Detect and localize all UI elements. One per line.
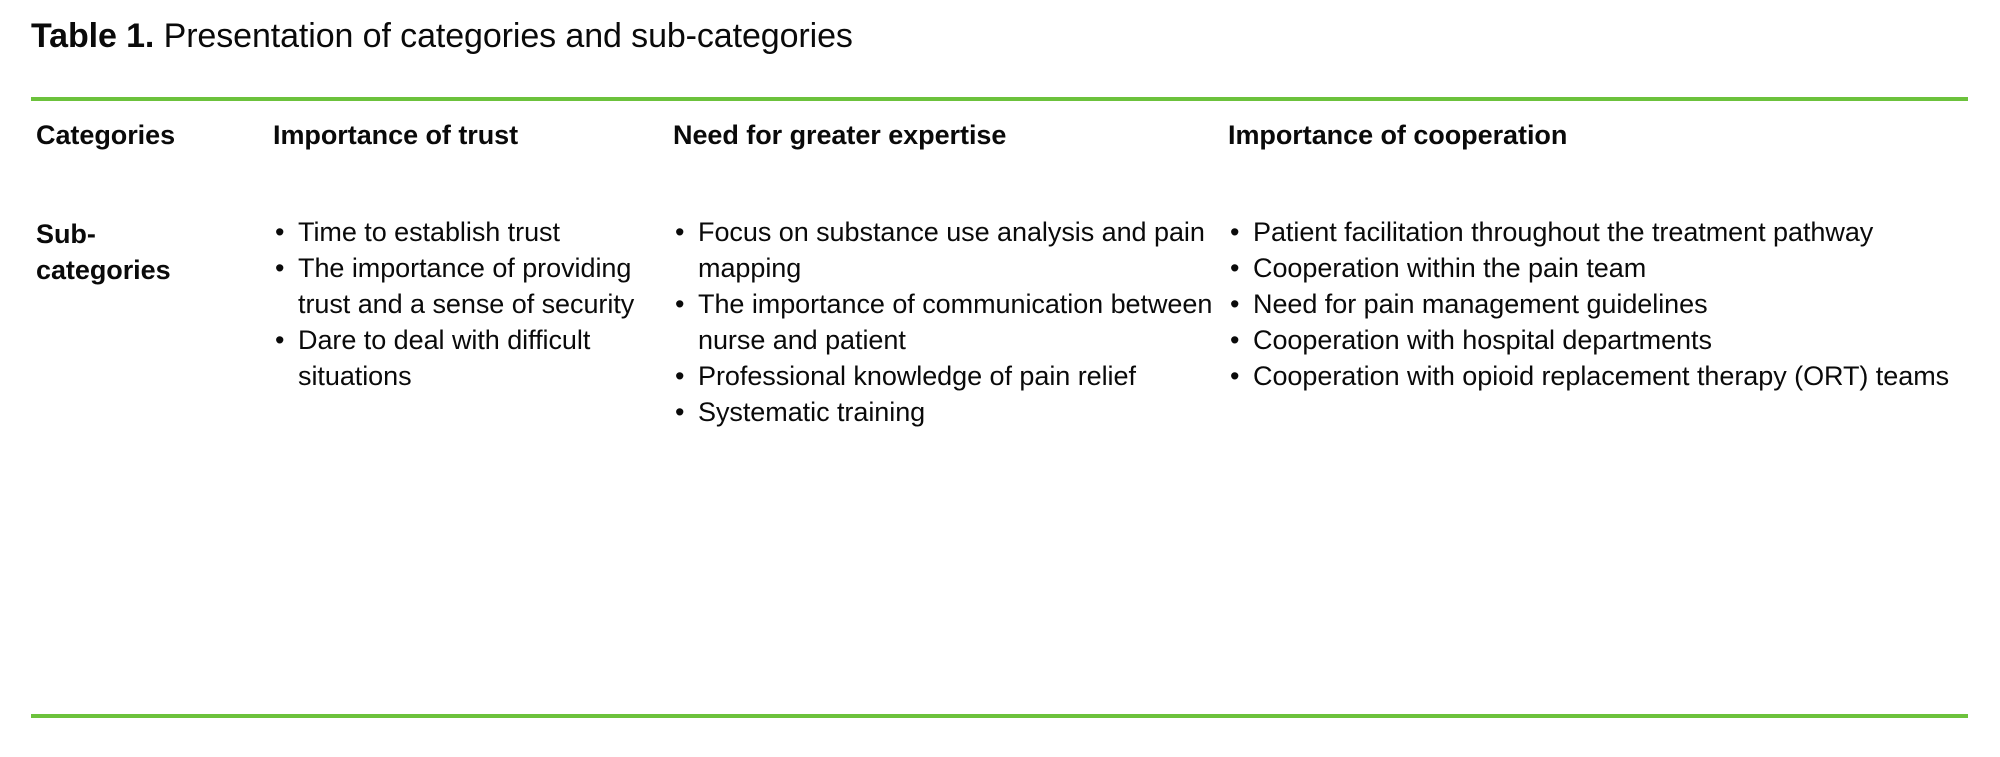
header-cell-need-for-greater-expertise: Need for greater expertise: [673, 118, 1218, 152]
table-rule-top: [31, 97, 1968, 101]
list-item: Cooperation with hospital departments: [1228, 322, 1988, 358]
list-item: Professional knowledge of pain relief: [673, 358, 1218, 394]
table-caption-text: Presentation of categories and sub-categ…: [154, 17, 853, 55]
header-cell-importance-of-trust: Importance of trust: [273, 118, 653, 152]
list-item: Focus on substance use analysis and pain…: [673, 214, 1218, 286]
table-body-row: Sub- categories Time to establish trust …: [0, 214, 2000, 514]
row-label-line-1: Sub-: [36, 216, 251, 252]
table-grid: Categories Importance of trust Need for …: [0, 118, 2000, 514]
bullet-list-trust: Time to establish trust The importance o…: [273, 214, 653, 394]
list-item: Patient facilitation throughout the trea…: [1228, 214, 1988, 250]
table-header-row: Categories Importance of trust Need for …: [0, 118, 2000, 214]
row-label-line-2: categories: [36, 252, 251, 288]
bullet-list-expertise: Focus on substance use analysis and pain…: [673, 214, 1218, 430]
list-item: Systematic training: [673, 394, 1218, 430]
body-cell-importance-of-cooperation: Patient facilitation throughout the trea…: [1228, 214, 1988, 394]
table-rule-bottom: [31, 714, 1968, 718]
table-figure: Table 1. Presentation of categories and …: [0, 0, 2000, 757]
list-item: Time to establish trust: [273, 214, 653, 250]
list-item: Cooperation with opioid replacement ther…: [1228, 358, 1988, 394]
list-item: Cooperation within the pain team: [1228, 250, 1988, 286]
bullet-list-cooperation: Patient facilitation throughout the trea…: [1228, 214, 1988, 394]
header-cell-categories: Categories: [36, 118, 251, 152]
row-label-sub-categories: Sub- categories: [36, 214, 251, 288]
table-caption-label: Table 1.: [31, 17, 154, 55]
body-cell-importance-of-trust: Time to establish trust The importance o…: [273, 214, 653, 394]
body-cell-need-for-greater-expertise: Focus on substance use analysis and pain…: [673, 214, 1218, 430]
table-caption: Table 1. Presentation of categories and …: [31, 14, 853, 58]
list-item: Dare to deal with difficult situations: [273, 322, 653, 394]
list-item: Need for pain management guidelines: [1228, 286, 1988, 322]
header-cell-importance-of-cooperation: Importance of cooperation: [1228, 118, 1988, 152]
list-item: The importance of providing trust and a …: [273, 250, 653, 322]
list-item: The importance of commu­nication between…: [673, 286, 1218, 358]
